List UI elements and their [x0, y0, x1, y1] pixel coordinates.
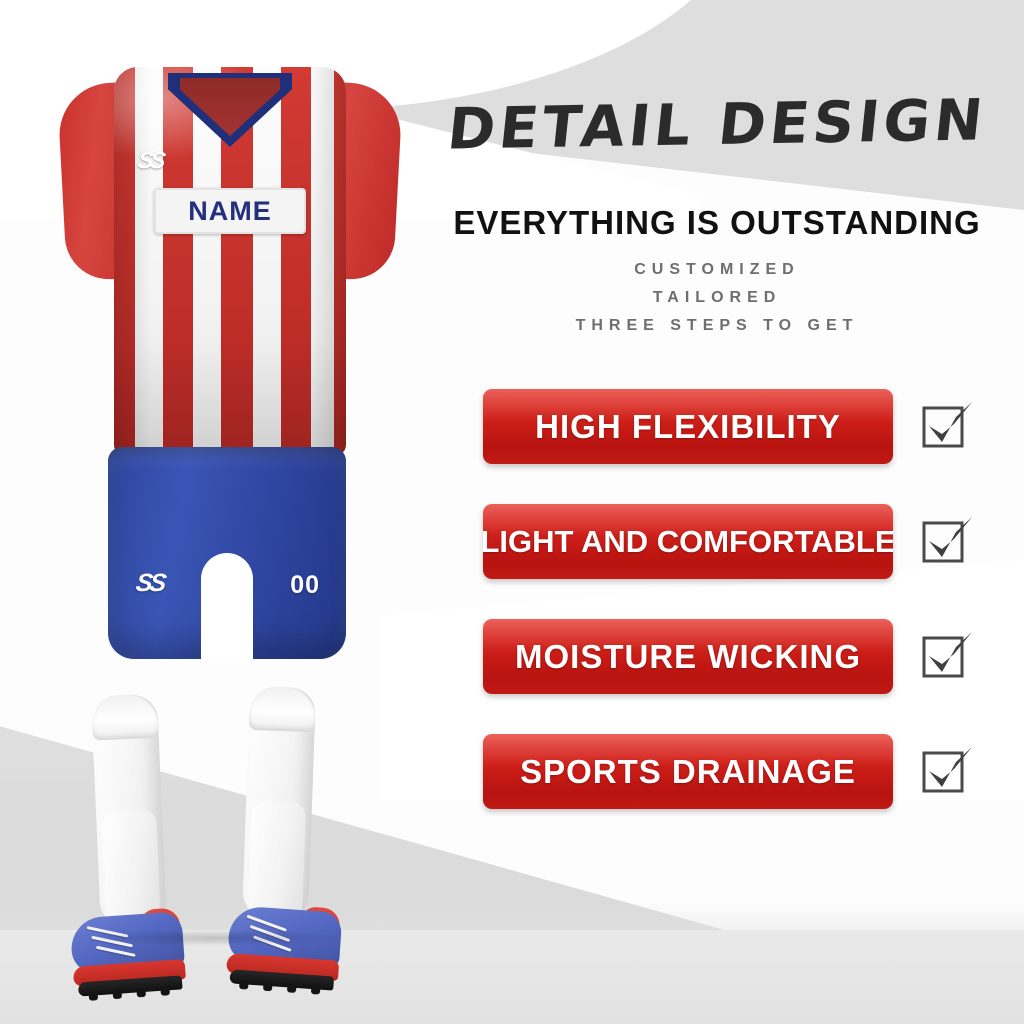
feature-row: LIGHT AND COMFORTABLE	[410, 504, 1024, 579]
cleat-left	[69, 907, 187, 1001]
feature-banner-high-flexibility: HIGH FLEXIBILITY	[483, 389, 893, 464]
feature-label: SPORTS DRAINAGE	[520, 753, 856, 791]
feature-label: LIGHT AND COMFORTABLE	[483, 524, 893, 560]
sock-right	[242, 686, 316, 923]
jersey-name-text: NAME	[188, 198, 272, 225]
shorts: SS 00	[108, 447, 346, 659]
shorts-leg-gap	[201, 553, 253, 663]
feature-label: MOISTURE WICKING	[515, 638, 861, 676]
checkbox-checked-icon	[920, 745, 974, 799]
shorts-number: 00	[290, 571, 320, 600]
jersey-brand-logo: SS	[136, 147, 164, 174]
feature-row: SPORTS DRAINAGE	[410, 734, 1024, 809]
marketing-copy-panel: DETAIL DESIGN EVERYTHING IS OUTSTANDING …	[410, 0, 1024, 1024]
sock-left	[91, 694, 167, 932]
page-subtitle: EVERYTHING IS OUTSTANDING	[410, 204, 1024, 242]
feature-banner-light-and-comfortable: LIGHT AND COMFORTABLE	[483, 504, 893, 579]
feature-banner-sports-drainage: SPORTS DRAINAGE	[483, 734, 893, 809]
jersey-name-patch: NAME	[154, 188, 306, 234]
tagline-three-steps: THREE STEPS TO GET	[410, 312, 1024, 340]
jersey: SS NAME	[62, 55, 398, 455]
shorts-waistband	[108, 447, 346, 463]
feature-label: HIGH FLEXIBILITY	[535, 408, 841, 446]
feature-banner-moisture-wicking: MOISTURE WICKING	[483, 619, 893, 694]
tagline-tailored: TAILORED	[410, 284, 1024, 312]
soccer-uniform-illustration: SS NAME SS 00	[50, 55, 410, 970]
checkbox-checked-icon	[920, 630, 974, 684]
feature-row: MOISTURE WICKING	[410, 619, 1024, 694]
shorts-brand-logo: SS	[134, 569, 165, 598]
checkbox-checked-icon	[920, 515, 974, 569]
kit-ground-shadow	[50, 928, 380, 948]
feature-row: HIGH FLEXIBILITY	[410, 389, 1024, 464]
feature-list: HIGH FLEXIBILITY LIGHT AND COMFORTABLE	[410, 389, 1024, 849]
cleat-right	[225, 901, 343, 995]
tagline-customized: CUSTOMIZED	[410, 256, 1024, 284]
jersey-torso: SS NAME	[114, 67, 346, 455]
tagline-group: CUSTOMIZED TAILORED THREE STEPS TO GET	[410, 256, 1024, 340]
page-title: DETAIL DESIGN	[420, 87, 1014, 163]
checkbox-checked-icon	[920, 400, 974, 454]
